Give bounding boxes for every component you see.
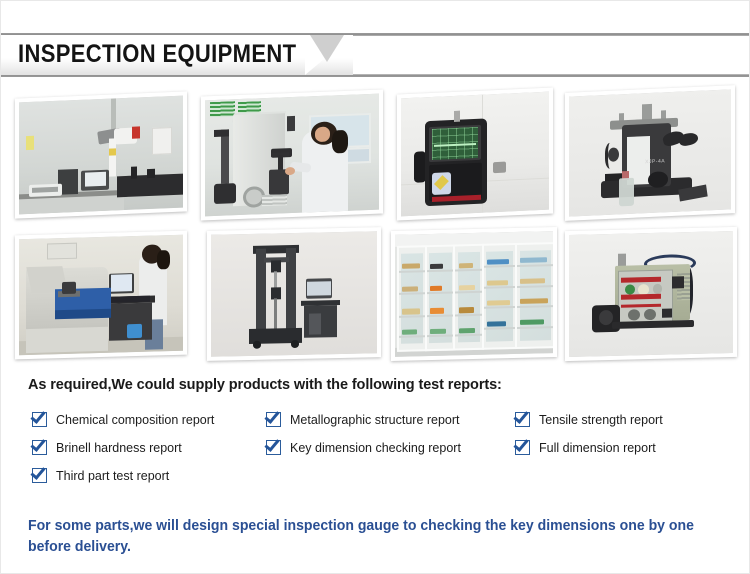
equipment-photo-grid: XJP-4A xyxy=(1,89,750,371)
inspection-equipment-page: INSPECTION EQUIPMENT xyxy=(0,0,750,574)
photo-spectrometer-frame xyxy=(19,235,183,356)
checklist-item-label: Chemical composition report xyxy=(56,413,214,427)
checklist-item-key-dimension-checking[interactable]: Key dimension checking report xyxy=(266,440,461,455)
microscope-model-label: XJP-4A xyxy=(645,158,665,165)
photo-magnetic-detector-frame xyxy=(569,231,733,357)
checkbox-checked-icon[interactable] xyxy=(266,440,281,455)
checklist-item-label: Metallographic structure report xyxy=(290,413,460,427)
photo-tensile-tester-scene xyxy=(211,231,377,356)
checklist-row: Brinell hardness report Key dimension ch… xyxy=(1,440,750,468)
checklist-item-label: Third part test report xyxy=(56,469,169,483)
checklist-item-brinell-hardness[interactable]: Brinell hardness report xyxy=(32,440,182,455)
photo-ultrasonic-detector[interactable] xyxy=(397,87,553,220)
photo-spectrometer-scene xyxy=(19,235,183,356)
photo-hardness-tester-scene xyxy=(205,94,379,217)
checkbox-checked-icon[interactable] xyxy=(32,440,47,455)
photo-gauge-cabinets-frame xyxy=(395,231,553,357)
checklist-item-tensile-strength[interactable]: Tensile strength report xyxy=(515,412,663,427)
photo-hardness-tester-frame xyxy=(205,94,379,217)
checklist-item-chemical-composition[interactable]: Chemical composition report xyxy=(32,412,214,427)
photo-metallurgical-microscope-frame: XJP-4A xyxy=(569,89,731,216)
page-header-banner: INSPECTION EQUIPMENT xyxy=(1,33,750,77)
photo-metallurgical-microscope-scene: XJP-4A xyxy=(569,89,731,216)
checkbox-checked-icon[interactable] xyxy=(515,440,530,455)
section-lead-text: As required,We could supply products wit… xyxy=(28,377,502,393)
checkbox-checked-icon[interactable] xyxy=(32,468,47,483)
checklist-item-full-dimension[interactable]: Full dimension report xyxy=(515,440,656,455)
test-report-checklist: Chemical composition report Metallograph… xyxy=(1,412,750,496)
checklist-item-label: Tensile strength report xyxy=(539,413,663,427)
checklist-item-third-part-test[interactable]: Third part test report xyxy=(32,468,169,483)
photo-gauge-cabinets-scene xyxy=(395,231,553,357)
photo-hardness-tester[interactable] xyxy=(201,90,383,221)
photo-magnetic-detector-scene xyxy=(569,231,733,357)
photo-cmm-frame xyxy=(19,96,183,215)
header-triangle-notch-icon xyxy=(310,35,344,62)
checklist-item-label: Key dimension checking report xyxy=(290,441,461,455)
photo-spectrometer[interactable] xyxy=(15,231,187,360)
checkbox-checked-icon[interactable] xyxy=(266,412,281,427)
photo-ultrasonic-detector-scene xyxy=(401,92,549,217)
photo-magnetic-detector[interactable] xyxy=(565,227,737,361)
page-title: INSPECTION EQUIPMENT xyxy=(18,40,296,69)
checklist-item-metallographic-structure[interactable]: Metallographic structure report xyxy=(266,412,460,427)
photo-gauge-cabinets[interactable] xyxy=(391,227,557,361)
photo-tensile-tester[interactable] xyxy=(207,227,381,361)
checklist-item-label: Full dimension report xyxy=(539,441,656,455)
checkbox-checked-icon[interactable] xyxy=(515,412,530,427)
photo-ultrasonic-detector-frame xyxy=(401,92,549,217)
checklist-row: Third part test report xyxy=(1,468,750,496)
footer-note: For some parts,we will design special in… xyxy=(28,516,697,557)
checklist-row: Chemical composition report Metallograph… xyxy=(1,412,750,440)
checkbox-checked-icon[interactable] xyxy=(32,412,47,427)
photo-cmm-scene xyxy=(19,96,183,215)
photo-cmm[interactable] xyxy=(15,91,187,218)
photo-tensile-tester-frame xyxy=(211,231,377,356)
photo-metallurgical-microscope[interactable]: XJP-4A xyxy=(565,85,735,221)
checklist-item-label: Brinell hardness report xyxy=(56,441,182,455)
